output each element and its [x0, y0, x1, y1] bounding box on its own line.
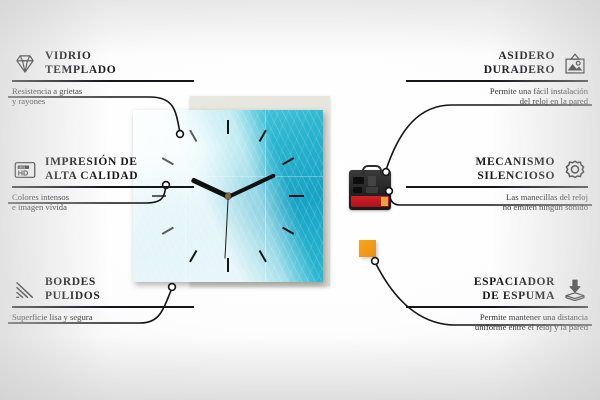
feature-espaciador-de-espuma: ESPACIADOR DE ESPUMA Permite mantener un…: [406, 276, 588, 333]
feature-title: BORDES PULIDOS: [45, 276, 100, 303]
clock-hub: [225, 193, 231, 199]
feature-header: ASIDERO DURADERO: [406, 50, 588, 77]
feature-rule: [12, 306, 194, 308]
feature-description: Permite una fácil instalación del reloj …: [406, 86, 588, 107]
mechanism-detail: [353, 177, 364, 184]
feature-description: Superficie lisa y segura: [12, 312, 194, 323]
glass-divider-vertical: [265, 110, 266, 282]
feature-header: ultra HD IMPRESIÓN DE ALTA CALIDAD: [12, 156, 194, 183]
hanger-loop-icon: [362, 165, 382, 175]
feature-header: BORDES PULIDOS: [12, 276, 194, 303]
picture-hanger-icon: [562, 51, 588, 77]
feature-rule: [406, 306, 588, 308]
press-down-pad-icon: [562, 277, 588, 303]
tick-6: [227, 258, 229, 272]
feature-rule: [12, 80, 194, 82]
feature-description: Colores intensos e imagen vívida: [12, 192, 194, 213]
mechanism-detail: [353, 187, 362, 193]
feature-title: ESPACIADOR DE ESPUMA: [474, 276, 555, 303]
infographic-canvas: VIDRIO TEMPLADO Resistencia a grietas y …: [0, 0, 600, 400]
svg-text:HD: HD: [18, 168, 29, 177]
feature-title: ASIDERO DURADERO: [484, 50, 555, 77]
feature-impresion-alta-calidad: ultra HD IMPRESIÓN DE ALTA CALIDAD Color…: [12, 156, 194, 213]
feature-title: MECANISMO SILENCIOSO: [475, 156, 555, 183]
battery-terminal: [381, 197, 388, 206]
foam-spacer: [359, 240, 376, 257]
feature-description: Resistencia a grietas y rayones: [12, 86, 194, 107]
feature-header: MECANISMO SILENCIOSO: [406, 156, 588, 183]
feature-rule: [406, 186, 588, 188]
feature-title: VIDRIO TEMPLADO: [45, 50, 116, 77]
gear-icon: [562, 157, 588, 183]
mechanism-detail: [368, 176, 376, 186]
tick-3: [289, 195, 304, 197]
feature-vidrio-templado: VIDRIO TEMPLADO Resistencia a grietas y …: [12, 50, 194, 107]
feature-rule: [406, 80, 588, 82]
mechanism-detail: [366, 187, 378, 193]
feature-description: Las manecillas del reloj no emiten ningú…: [406, 192, 588, 213]
diamond-icon: [12, 51, 38, 77]
wire-endpoint-espaciador: [372, 258, 379, 265]
feature-description: Permite mantener una distancia uniforme …: [406, 312, 588, 333]
diagonal-lines-icon: [12, 277, 38, 303]
feature-header: ESPACIADOR DE ESPUMA: [406, 276, 588, 303]
battery: [351, 196, 389, 207]
feature-title: IMPRESIÓN DE ALTA CALIDAD: [45, 156, 138, 183]
feature-bordes-pulidos: BORDES PULIDOS Superficie lisa y segura: [12, 276, 194, 322]
feature-rule: [12, 186, 194, 188]
feature-asidero-duradero: ASIDERO DURADERO Permite una fácil insta…: [406, 50, 588, 107]
ultra-hd-icon: ultra HD: [12, 157, 38, 183]
glass-pane-tile: [185, 110, 265, 176]
feature-header: VIDRIO TEMPLADO: [12, 50, 194, 77]
feature-mecanismo-silencioso: MECANISMO SILENCIOSO Las manecillas del …: [406, 156, 588, 213]
tick-12: [227, 120, 229, 134]
